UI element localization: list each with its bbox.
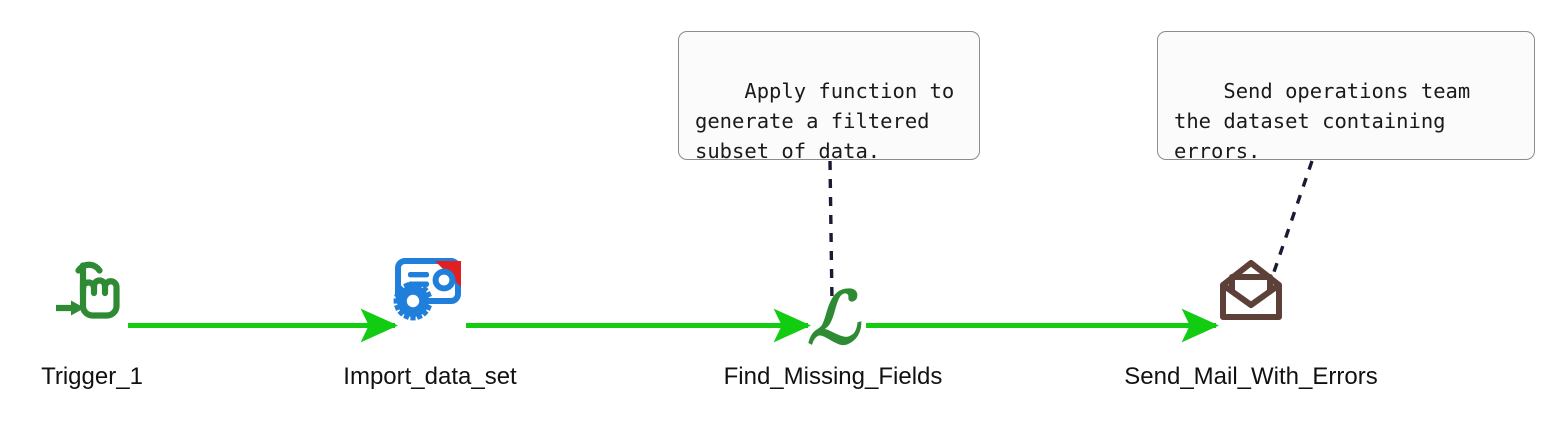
callout-text: Send operations team the dataset contain… (1174, 79, 1470, 163)
node-label-find-missing-fields: Find_Missing_Fields (724, 363, 943, 391)
node-label-trigger-1: Trigger_1 (41, 363, 143, 391)
node-label-import-data-set: Import_data_set (343, 363, 516, 391)
import-dataset-card-gear-icon[interactable] (391, 249, 469, 325)
callout-text: Apply function to generate a filtered su… (695, 79, 954, 163)
script-l-glyph: ℒ (807, 282, 859, 354)
workflow-diagram-canvas: Apply function to generate a filtered su… (0, 0, 1548, 432)
node-label-send-mail-with-errors: Send_Mail_With_Errors (1124, 363, 1377, 391)
script-lambda-function-icon[interactable]: ℒ (807, 282, 859, 354)
open-envelope-mail-icon[interactable] (1215, 259, 1287, 323)
tap-hand-trigger-icon[interactable] (54, 250, 130, 322)
callout-send-mail-with-errors: Send operations team the dataset contain… (1157, 31, 1535, 160)
callout-find-missing-fields: Apply function to generate a filtered su… (678, 31, 980, 160)
